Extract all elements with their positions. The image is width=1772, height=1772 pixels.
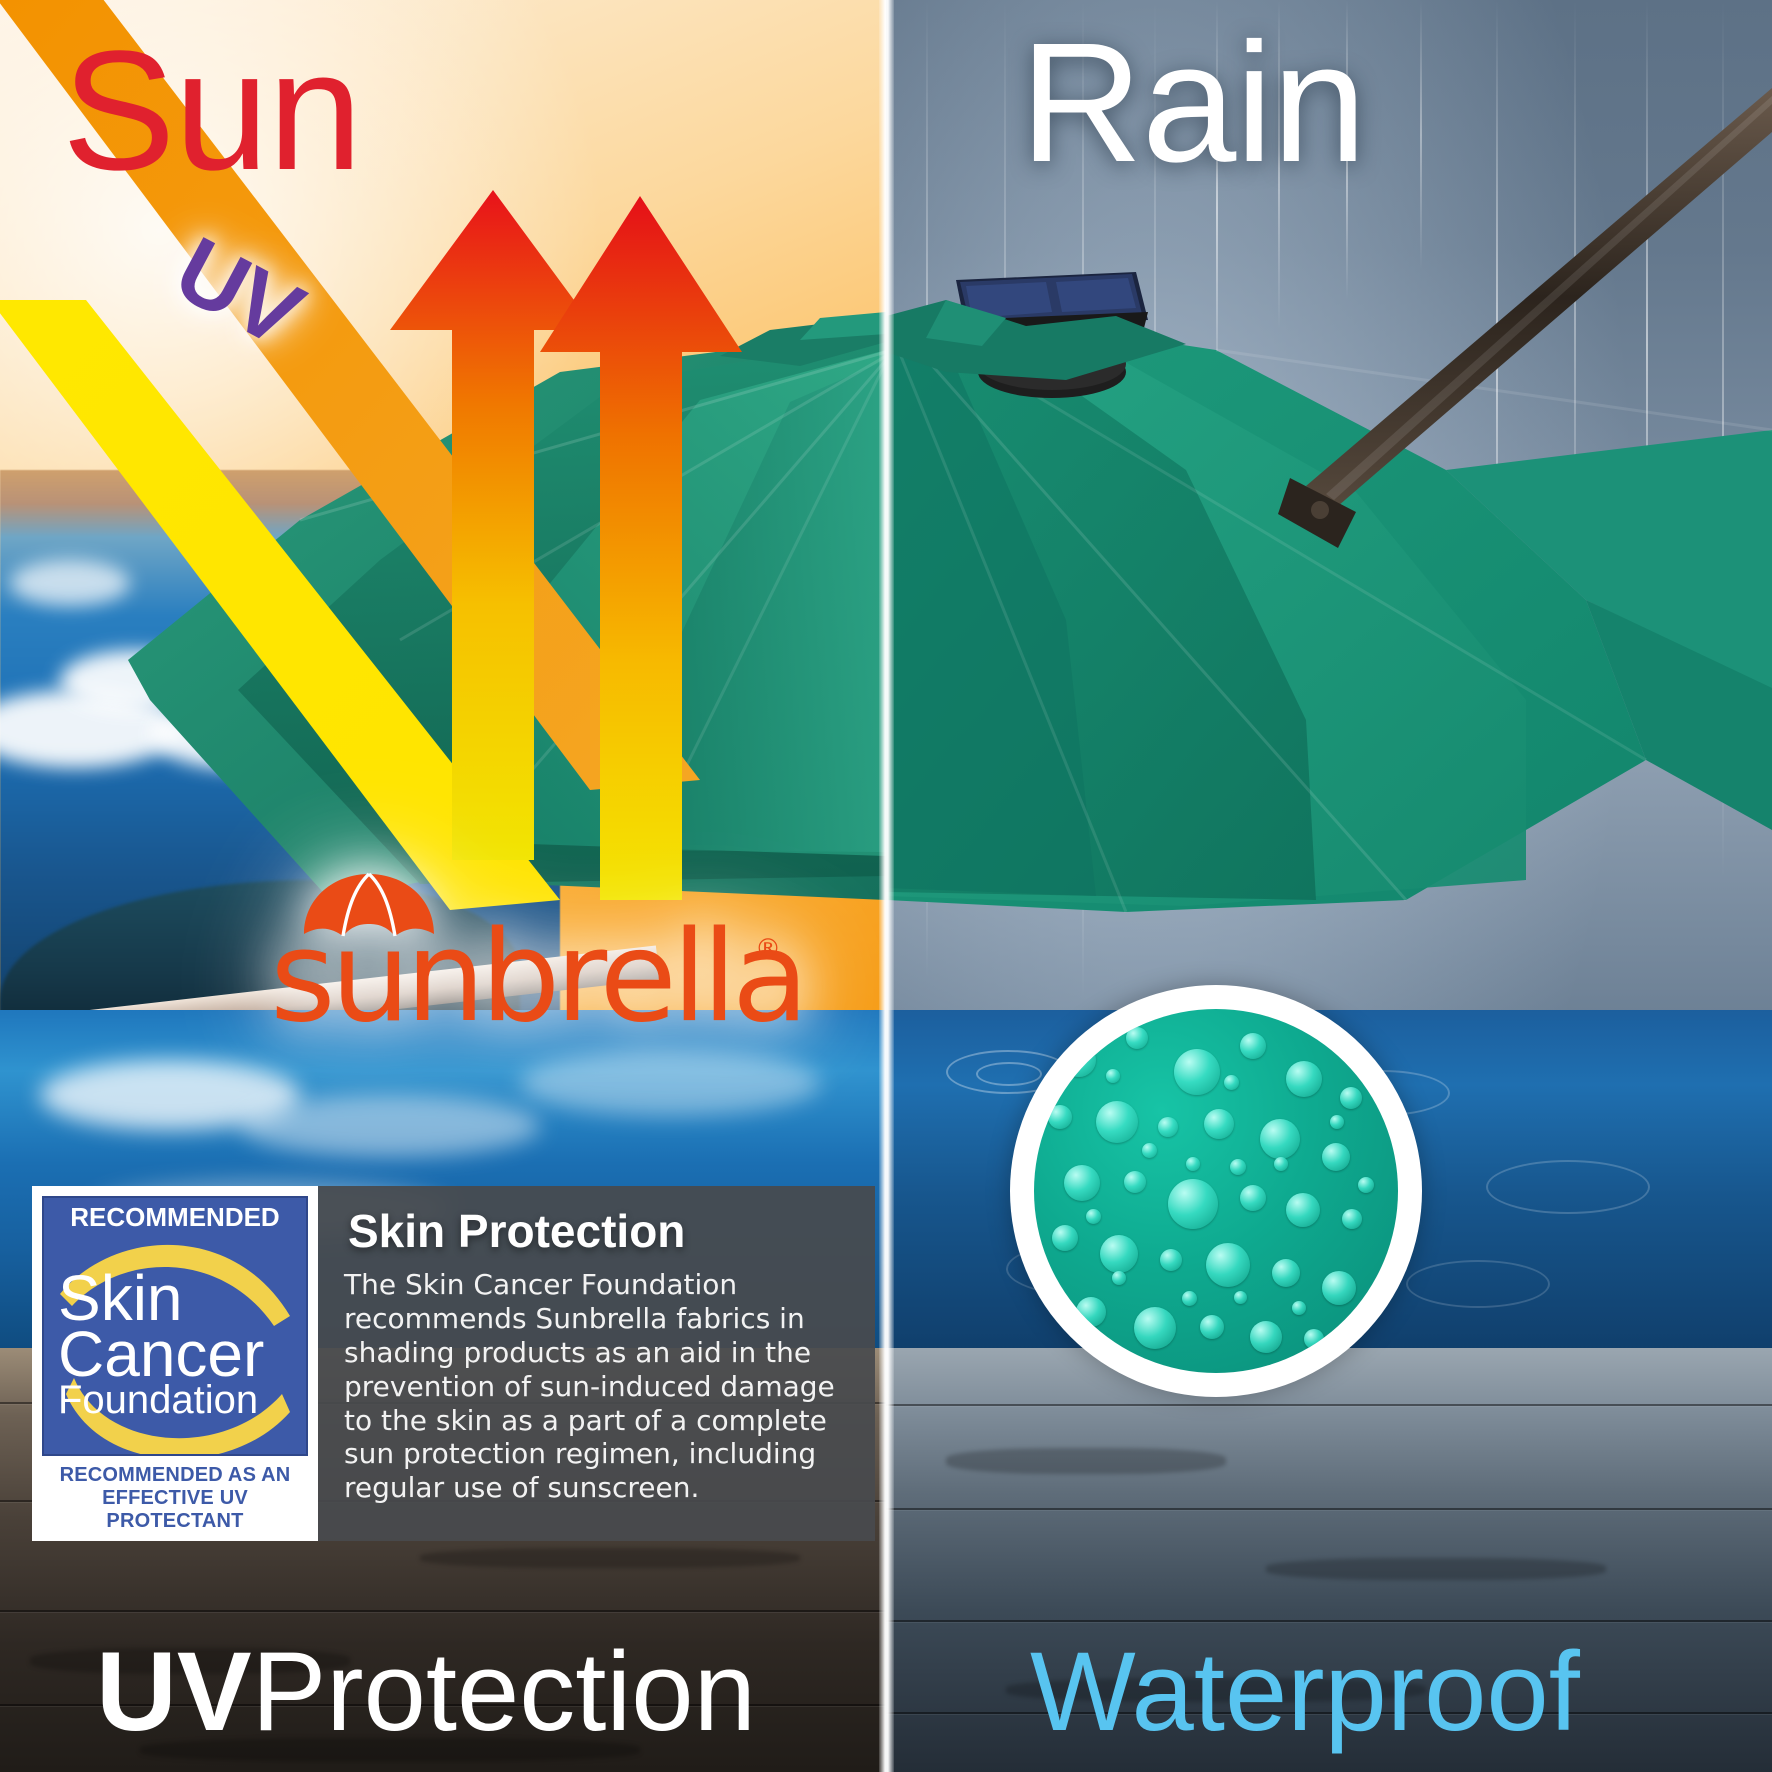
skin-cancer-foundation-badge: RECOMMENDED Skin Cancer Foundation RECOM… [32, 1186, 318, 1541]
scf-badge-inner: RECOMMENDED Skin Cancer Foundation [42, 1196, 308, 1456]
scf-wordmark: Skin Cancer Foundation [58, 1270, 306, 1418]
sun-heading: Sun [62, 26, 361, 196]
uv-protection-caption-light: Protection [252, 1629, 756, 1754]
sunbrella-logo: sunbrella ® [270, 872, 790, 1032]
panel-divider [879, 0, 894, 1772]
rain-panel: Rain Waterproof [886, 0, 1772, 1772]
scf-caption-line-1: RECOMMENDED AS AN [44, 1464, 306, 1487]
scf-line-cancer: Cancer [58, 1326, 306, 1382]
skin-protection-title: Skin Protection [348, 1208, 849, 1254]
scf-caption: RECOMMENDED AS AN EFFECTIVE UV PROTECTAN… [44, 1464, 306, 1533]
registered-trademark-symbol: ® [755, 934, 781, 964]
sunbrella-wordmark: sunbrella [270, 914, 804, 1040]
marketing-image: Sun UV sunbrella ® UVProtection [0, 0, 1772, 1772]
scf-caption-line-2: EFFECTIVE UV PROTECTANT [44, 1487, 306, 1533]
skin-protection-body: The Skin Cancer Foundation recommends Su… [344, 1268, 849, 1505]
skin-protection-card: RECOMMENDED Skin Cancer Foundation RECOM… [32, 1186, 875, 1541]
scf-recommended-word: RECOMMENDED [44, 1202, 306, 1233]
water-beading-inset [1010, 985, 1422, 1397]
umbrella-canopy-right [886, 0, 1772, 1772]
uv-protection-caption-bold: UV [96, 1629, 252, 1754]
uv-protection-caption: UVProtection [96, 1636, 756, 1748]
skin-protection-text-block: Skin Protection The Skin Cancer Foundati… [318, 1186, 875, 1541]
rain-heading: Rain [1020, 18, 1366, 188]
water-droplets-closeup [1034, 1009, 1398, 1373]
scf-line-foundation: Foundation [58, 1383, 306, 1418]
waterproof-caption: Waterproof [1030, 1636, 1580, 1748]
